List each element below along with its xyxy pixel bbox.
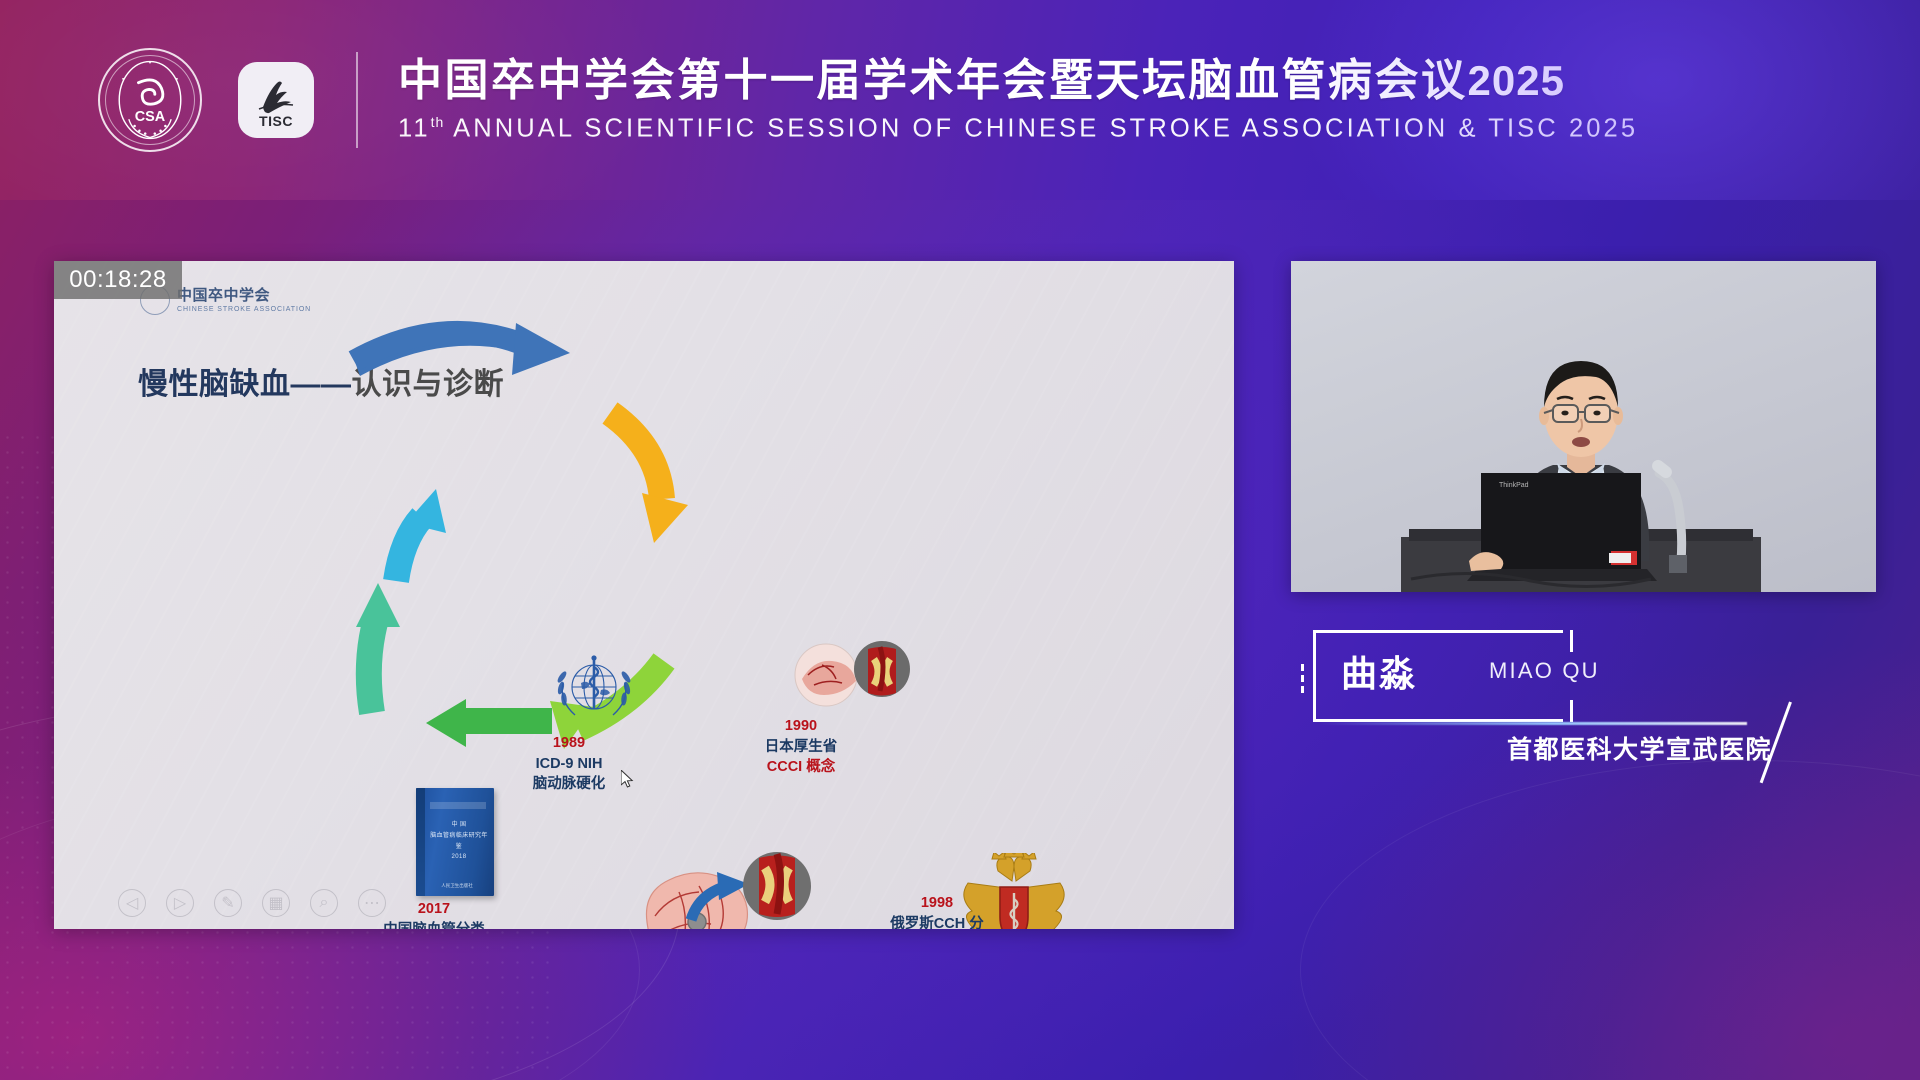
svg-text:ThinkPad: ThinkPad [1499,482,1529,489]
speaker-name-cn: 曲淼 [1341,645,1417,697]
book-year: 2018 [452,854,467,860]
central-brain-illustration [629,846,829,929]
slide-player-controls[interactable]: ◁ ▷ ✎ ▦ ⌕ ⋯ [118,889,386,917]
nameplate-glow-line [1317,722,1747,725]
node-label-russia-1998: 1998 俄罗斯CCH 分 期 [862,893,1012,929]
pen-button[interactable]: ✎ [214,889,242,917]
event-title-cn: 中国卒中学会第十一届学术年会暨天坛脑血管病会议2025 [398,56,1638,105]
nameplate-dots [1301,664,1304,693]
node-label-japan-1990: 1990 日本厚生省 CCCI 概念 [726,716,876,778]
play-button[interactable]: ▷ [166,889,194,917]
arrow-blue [354,323,570,376]
event-title-en: 11th ANNUAL SCIENTIFIC SESSION OF CHINES… [398,114,1638,144]
speaker-organization: 首都医科大学宣武医院 [1507,730,1772,766]
who-emblem-icon [551,643,637,729]
zoom-button[interactable]: ⌕ [310,889,338,917]
book-title-line2: 脑血管病临床研究年鉴 [430,833,488,850]
grid-button[interactable]: ▦ [262,889,290,917]
presentation-slide-panel[interactable]: 00:18:28 中国卒中学会 CHINESE STROKE ASSOCIATI… [54,261,1234,929]
brain-vessel-1990-image [794,639,914,713]
decor-swoosh-3 [1300,760,1920,1080]
speaker-nameplate: 曲淼 MIAO QU 首都医科大学宣武医院 [1313,618,1873,768]
tisc-logo-icon: TISC [245,69,307,131]
prev-button[interactable]: ◁ [118,889,146,917]
event-header-banner: CSA TI [0,0,1920,200]
speaker-figure: ThinkPad [1291,261,1876,592]
china-classification-book: 中 国 脑血管病临床研究年鉴 2018 人民卫生出版社 [416,788,494,896]
speaker-name-en: MIAO QU [1489,658,1600,684]
book-footer: 人民卫生出版社 [426,883,488,889]
arrow-cyan [396,489,446,581]
arrow-yellow [610,413,688,543]
arrow-teal [356,583,400,713]
central-brain-icon [629,846,829,929]
diagram-arrows [54,261,1234,929]
book-title-line1: 中 国 [452,822,467,828]
more-button[interactable]: ⋯ [358,889,386,917]
tisc-logo: TISC [238,62,314,138]
who-emblem [551,643,637,729]
brain-vessel-1990-icon [794,639,914,713]
speaker-video-feed[interactable]: ThinkPad [1291,261,1876,592]
node-label-who-1989: 1989 ICD-9 NIH 脑动脉硬化 [484,733,654,795]
page-root: CSA TI [0,0,1920,1080]
svg-text:TISC: TISC [259,113,293,129]
cycle-diagram: 厚生労働省 Ministry of Health, Labour and Wel… [54,261,1234,929]
header-divider [356,52,358,148]
event-year: 2025 [1468,57,1565,104]
session-timer: 00:18:28 [54,261,182,299]
header-title-block: 中国卒中学会第十一届学术年会暨天坛脑血管病会议2025 11th ANNUAL … [398,56,1638,144]
csa-logo: CSA [98,48,202,152]
